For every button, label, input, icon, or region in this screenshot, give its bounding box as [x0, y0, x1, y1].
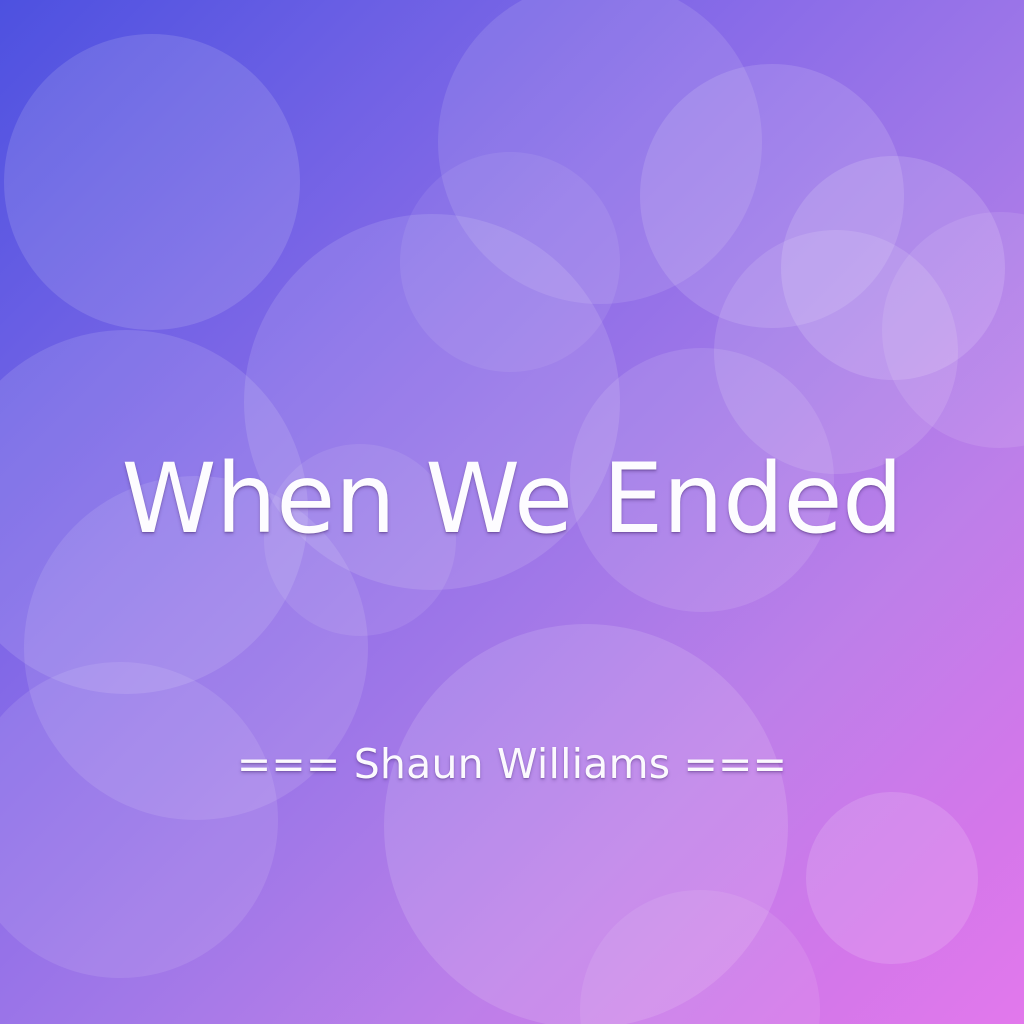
cover-text-layer: When We Ended === Shaun Williams === — [0, 0, 1024, 1024]
album-artist: === Shaun Williams === — [0, 744, 1024, 785]
album-title: When We Ended — [0, 451, 1024, 547]
album-cover: When We Ended === Shaun Williams === — [0, 0, 1024, 1024]
